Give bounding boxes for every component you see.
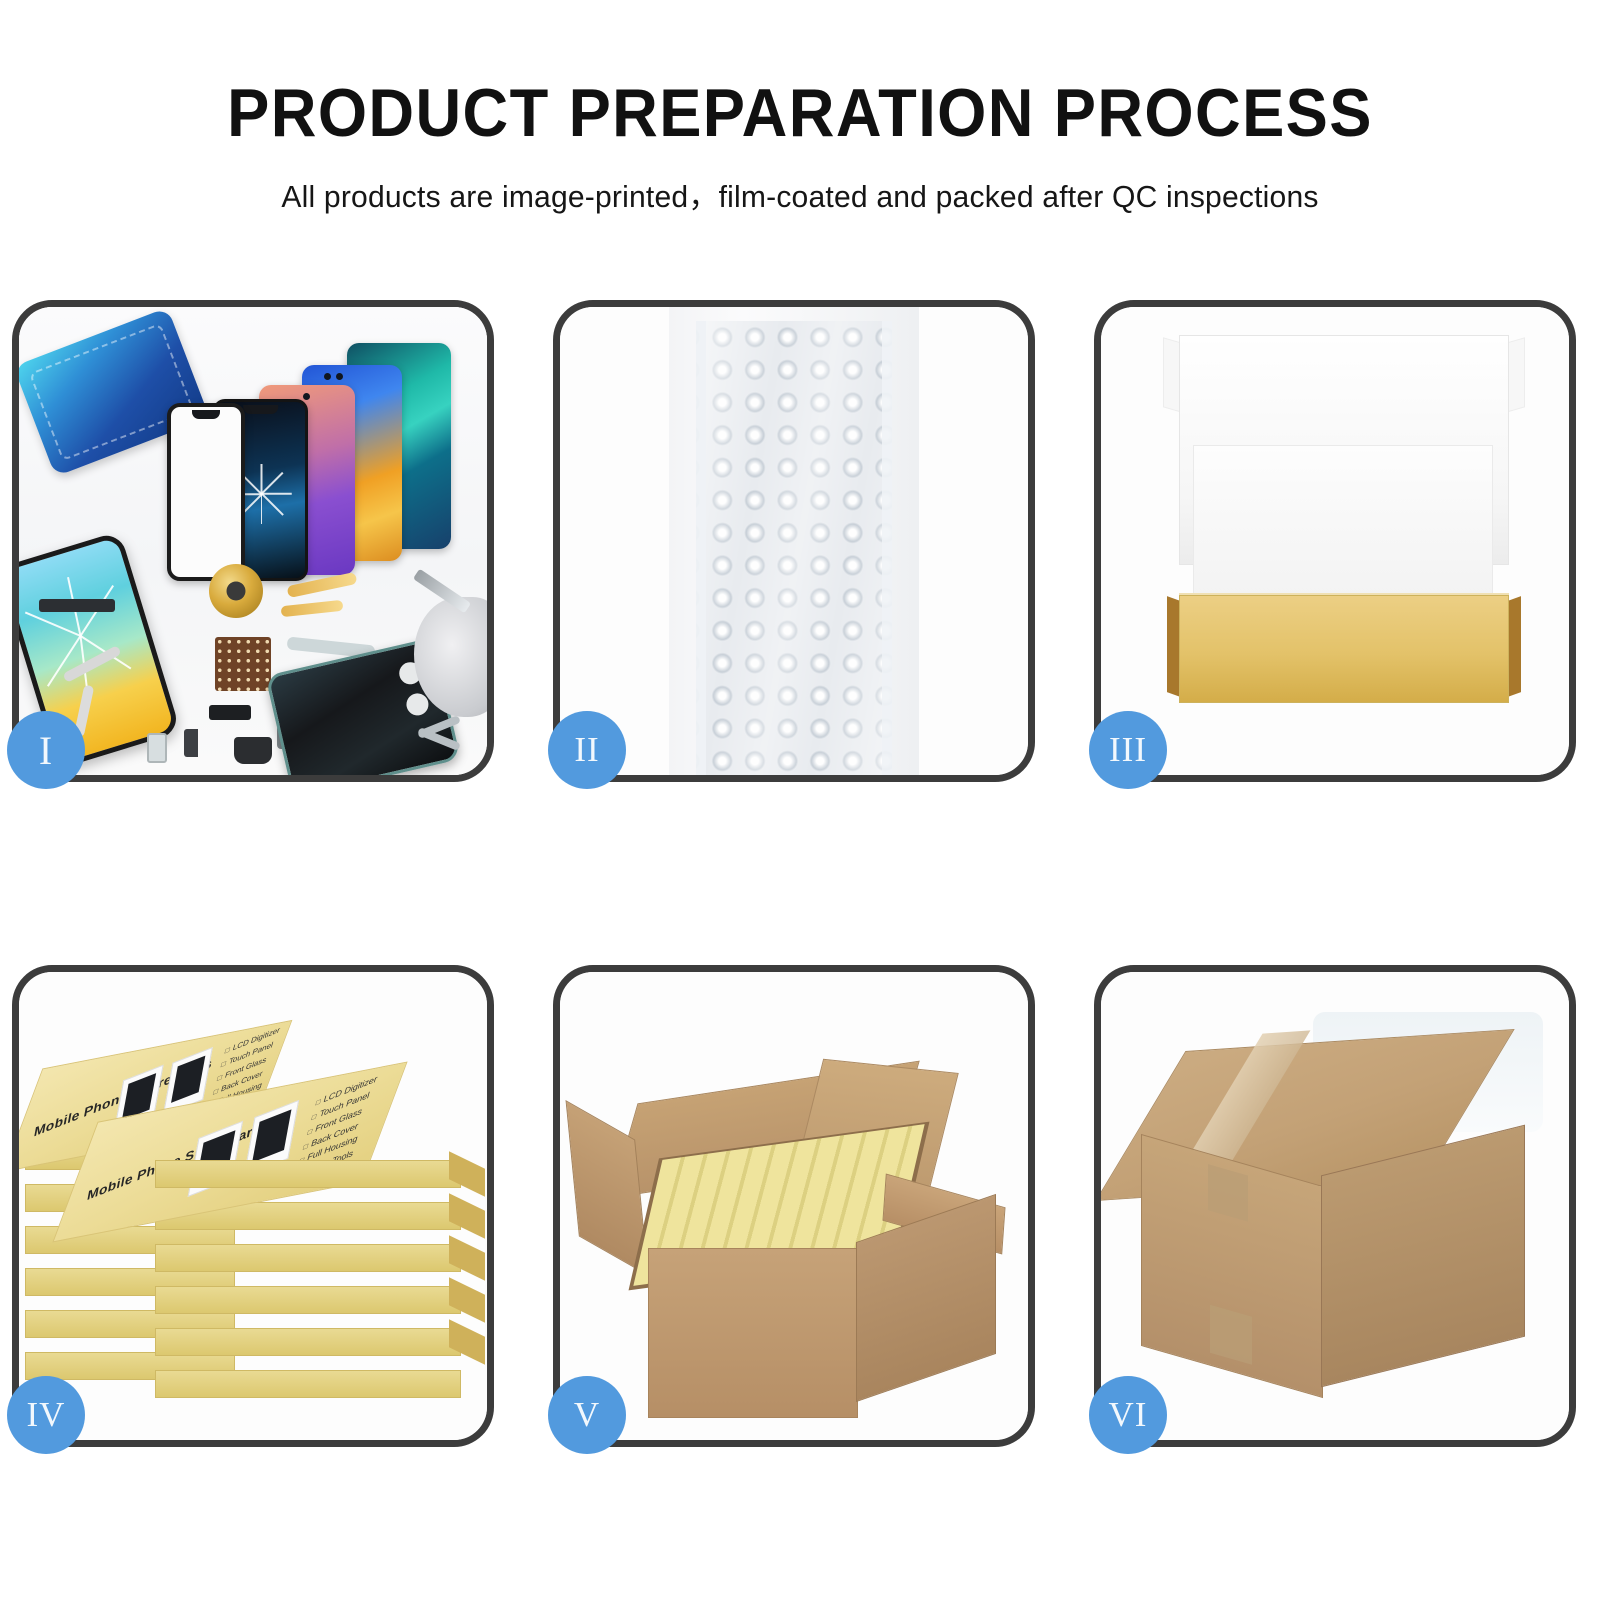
ic-chip-part: [215, 637, 271, 691]
stack-box-side: [449, 1151, 485, 1197]
process-step-5[interactable]: V: [553, 965, 1035, 1447]
flex-cable-gold-2: [281, 600, 344, 617]
step-badge-3: III: [1089, 711, 1167, 789]
bubble-wrap-bubbles: [696, 321, 892, 775]
step-badge-1: I: [7, 711, 85, 789]
process-step-4[interactable]: Mobile Phone Spare Parts LCD Digitizer T…: [12, 965, 494, 1447]
earpiece-speaker-part: [39, 599, 115, 612]
process-step-2[interactable]: II: [553, 300, 1035, 782]
notch: [243, 405, 279, 414]
carton-tab-upper: [1208, 1164, 1248, 1221]
step-5-photo: [560, 972, 1028, 1440]
header: PRODUCT PREPARATION PROCESS All products…: [0, 78, 1600, 216]
flex-cable-gold-1: [287, 572, 358, 598]
step-3-photo: [1101, 307, 1569, 775]
speaker-module-part: [234, 737, 272, 764]
step-2-photo: [560, 307, 1028, 775]
infographic-page: PRODUCT PREPARATION PROCESS All products…: [0, 0, 1600, 1600]
process-step-1[interactable]: I: [12, 300, 494, 782]
carton-tab-lower: [1210, 1305, 1252, 1365]
box-front-kraft: [1179, 595, 1509, 703]
stack-box-side: [449, 1277, 485, 1323]
notch: [192, 410, 220, 419]
stack-box-plain: [155, 1244, 461, 1272]
step-4-photo: Mobile Phone Spare Parts LCD Digitizer T…: [19, 972, 487, 1440]
stack-box-front-top: [155, 1160, 461, 1188]
carton-front-face: [648, 1248, 858, 1418]
spare-parts-layout: [19, 557, 487, 775]
step-6-photo: [1101, 972, 1569, 1440]
flex-cable-1: [62, 645, 121, 683]
foam-insert: [1193, 445, 1493, 597]
step-badge-5: V: [548, 1376, 626, 1454]
step-badge-2: II: [548, 711, 626, 789]
process-step-grid: I II: [12, 300, 1588, 1590]
bubble-wrap-sleeve: [669, 307, 919, 775]
page-title: PRODUCT PREPARATION PROCESS: [56, 78, 1544, 149]
front-glass-panel: [167, 403, 245, 581]
labeled-box-stack: Mobile Phone Spare Parts LCD Digitizer T…: [19, 972, 487, 1440]
side-button-part: [184, 729, 198, 757]
stack-box-plain: [155, 1328, 461, 1356]
step-1-photo: [19, 307, 487, 775]
phone-screen-fan: [167, 337, 467, 567]
stack-box-side: [449, 1193, 485, 1239]
process-step-6[interactable]: VI: [1094, 965, 1576, 1447]
stack-box-plain: [155, 1370, 461, 1398]
page-subtitle: All products are image-printed，film-coat…: [24, 171, 1576, 216]
plastic-sheen: [706, 321, 882, 775]
taptic-engine-part: [209, 564, 263, 618]
sim-tray-part: [147, 733, 167, 763]
step-badge-4: IV: [7, 1376, 85, 1454]
stack-box-plain: [155, 1286, 461, 1314]
stack-box-side: [449, 1235, 485, 1281]
process-step-3[interactable]: III: [1094, 300, 1576, 782]
stack-box-side: [449, 1319, 485, 1365]
small-module-part: [209, 705, 251, 720]
step-badge-6: VI: [1089, 1376, 1167, 1454]
